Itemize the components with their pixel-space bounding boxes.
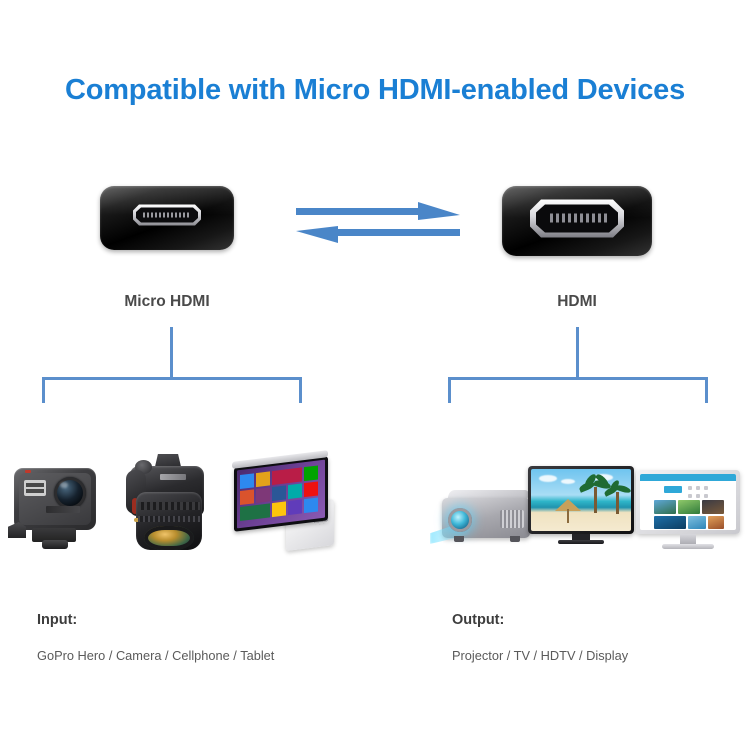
gopro-brand-strip xyxy=(46,506,80,513)
device-projector xyxy=(434,474,542,554)
input-caption-list: GoPro Hero / Camera / Cellphone / Tablet xyxy=(37,648,274,663)
bracket-leg-left xyxy=(42,377,45,403)
monitor-bezel xyxy=(636,470,740,534)
bracket-bar xyxy=(448,377,708,380)
camera-focus-ring xyxy=(138,516,200,522)
bracket-stem xyxy=(170,327,173,379)
monitor-base xyxy=(662,544,714,549)
hdmi-label: HDMI xyxy=(467,293,687,311)
device-convertible-laptop-tablet xyxy=(228,452,338,552)
device-flat-screen-tv xyxy=(528,466,636,548)
bracket-leg-left xyxy=(448,377,451,403)
gopro-record-light xyxy=(25,470,31,473)
monitor-screen-content xyxy=(640,474,736,530)
bidirectional-arrows xyxy=(296,198,460,248)
output-caption-list: Projector / TV / HDTV / Display xyxy=(452,648,628,663)
bracket-leg-right xyxy=(299,377,302,403)
projector-vent xyxy=(500,510,524,528)
camera-brand-mark xyxy=(160,474,186,480)
micro-hdmi-port-icon xyxy=(130,203,204,234)
gopro-status-screen xyxy=(24,480,46,496)
micro-hdmi-label: Micro HDMI xyxy=(57,293,277,311)
input-caption-title: Input: xyxy=(37,612,77,628)
projector-lens xyxy=(448,508,472,532)
device-desktop-monitor xyxy=(636,470,744,550)
windows-start-tiles xyxy=(237,460,325,529)
bracket-bar xyxy=(42,377,302,380)
page-title: Compatible with Micro HDMI-enabled Devic… xyxy=(0,74,750,107)
laptop-screen xyxy=(234,456,328,532)
arrow-left-icon xyxy=(296,226,460,243)
tv-beach-scene xyxy=(531,469,631,531)
projector-foot-right xyxy=(510,536,520,542)
gopro-tripod-foot xyxy=(42,540,68,549)
gopro-lens xyxy=(54,477,86,509)
arrow-right-icon xyxy=(296,202,460,220)
tv-bezel xyxy=(528,466,634,534)
camera-zoom-ring xyxy=(138,502,200,510)
hdmi-connector xyxy=(502,186,652,256)
micro-hdmi-connector xyxy=(100,186,234,250)
device-dslr-camera xyxy=(108,452,218,556)
output-caption-title: Output: xyxy=(452,612,504,628)
monitor-app-header xyxy=(640,474,736,481)
bracket-stem xyxy=(576,327,579,379)
camera-front-element xyxy=(144,526,194,550)
projector-foot-left xyxy=(454,536,464,542)
bracket-leg-right xyxy=(705,377,708,403)
device-gopro-hero-action-camera xyxy=(8,462,104,554)
infographic-canvas: Compatible with Micro HDMI-enabled Devic… xyxy=(0,0,750,750)
hdmi-port-icon xyxy=(525,197,629,246)
tv-stand-base xyxy=(558,540,604,544)
monitor-neck xyxy=(680,534,696,544)
